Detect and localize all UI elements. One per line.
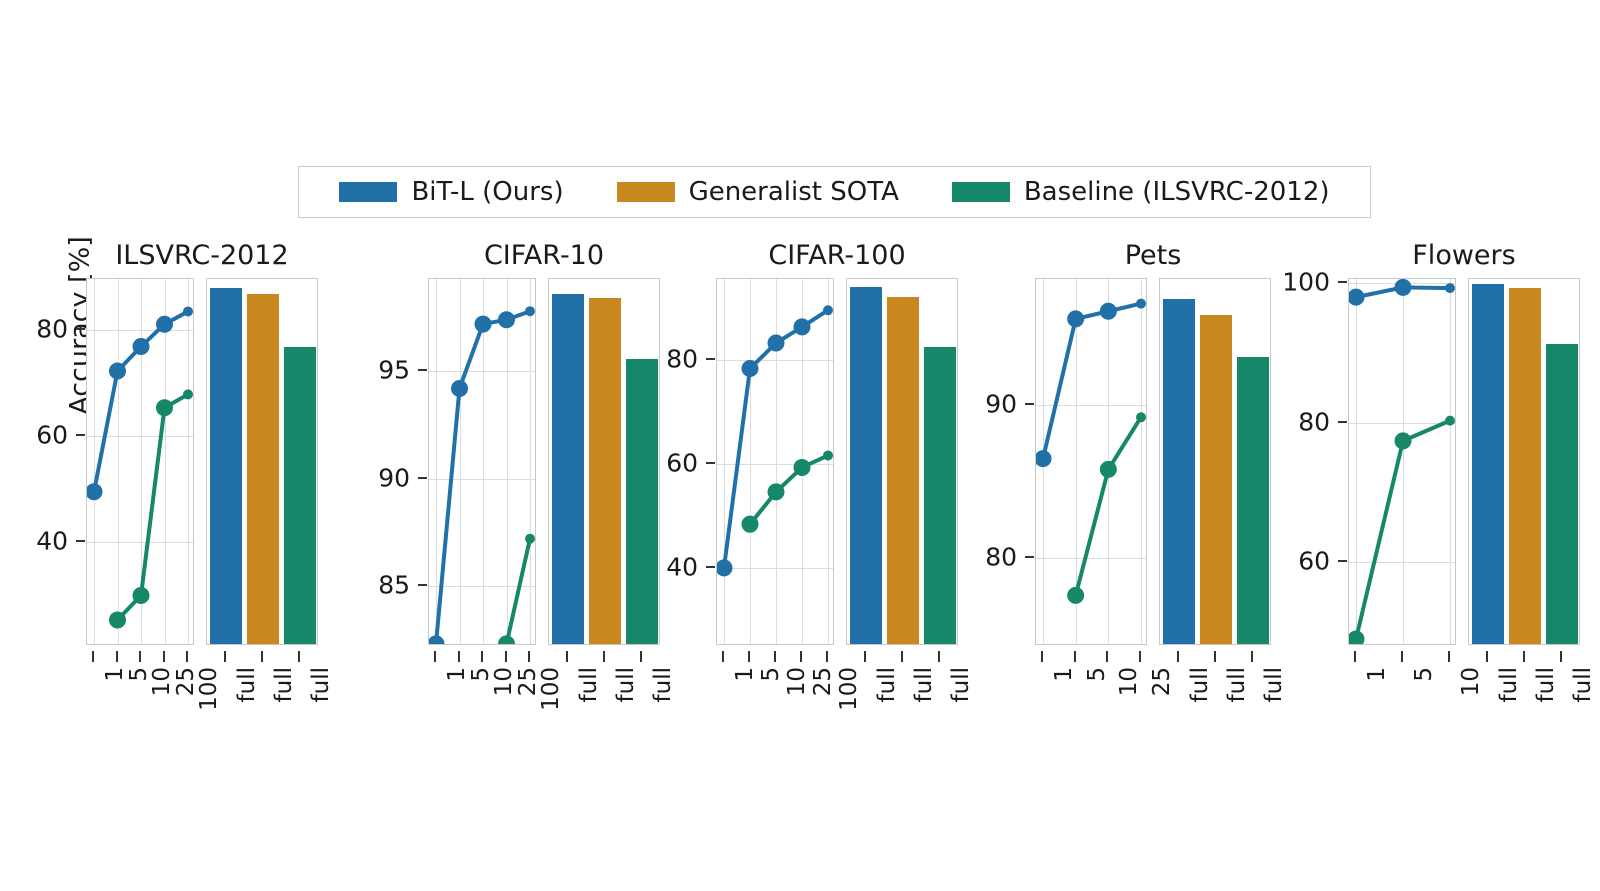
- x-tick-label: 5: [1411, 667, 1437, 682]
- x-tick-mark: [1106, 651, 1108, 662]
- x-tick-label: 10: [491, 667, 517, 696]
- axes-row: [716, 278, 958, 645]
- x-tick-mark: [481, 651, 483, 662]
- x-tick-label: 1: [732, 667, 758, 682]
- x-tick-label: 5: [468, 667, 494, 682]
- bar-axes: [548, 278, 660, 645]
- x-tick-mark: [434, 651, 436, 662]
- bar: [1472, 284, 1504, 644]
- legend-entry-baseline-ilsvrc-2012[interactable]: Baseline (ILSVRC-2012): [952, 179, 1330, 205]
- series-marker: [110, 612, 126, 628]
- figure-canvas: BiT-L (Ours)Generalist SOTABaseline (ILS…: [0, 0, 1600, 891]
- x-tick-label: 25: [515, 667, 541, 696]
- subplot-title: Flowers: [1348, 240, 1580, 271]
- series-marker: [824, 451, 833, 460]
- series-marker: [1137, 299, 1146, 308]
- x-tick-label: 10: [149, 667, 175, 696]
- y-tick-mark: [418, 369, 427, 371]
- x-tick-label: full: [576, 667, 602, 702]
- y-tick-mark: [418, 584, 427, 586]
- x-tick-label: full: [874, 667, 900, 702]
- x-tick-mark: [748, 651, 750, 662]
- x-tick-label: full: [1224, 667, 1250, 702]
- legend-swatch-baseline-ilsvrc-2012: [952, 182, 1010, 202]
- x-tick-mark: [298, 651, 300, 662]
- series-line: [507, 539, 531, 644]
- axes-row: [1348, 278, 1580, 645]
- series-marker: [742, 361, 758, 377]
- line-axes: [716, 278, 834, 645]
- x-tick-mark: [722, 651, 724, 662]
- x-tick-mark: [1139, 651, 1141, 662]
- bar: [552, 294, 584, 644]
- y-tick-label: 40: [666, 552, 698, 581]
- y-tick-mark: [1338, 281, 1347, 283]
- bar: [850, 287, 882, 644]
- series-marker: [133, 587, 149, 603]
- legend-label-generalist-sota: Generalist SOTA: [689, 179, 899, 205]
- x-tick-mark: [261, 651, 263, 662]
- axes-row: [428, 278, 660, 645]
- x-tick-mark: [640, 651, 642, 662]
- x-tick-label: 1: [444, 667, 470, 682]
- series-marker: [526, 307, 535, 316]
- y-tick-mark: [1025, 556, 1034, 558]
- x-tick-label: 25: [810, 667, 836, 696]
- series-marker: [428, 636, 444, 645]
- bar-axes: [206, 278, 318, 645]
- x-tick-mark: [603, 651, 605, 662]
- x-tick-mark: [1560, 651, 1562, 662]
- x-tick-label: 10: [784, 667, 810, 696]
- y-tick-label: 95: [378, 356, 410, 385]
- bar-axes: [1468, 278, 1580, 645]
- x-tick-label: 100: [836, 667, 862, 711]
- x-tick-mark: [1214, 651, 1216, 662]
- series-marker: [1068, 311, 1084, 327]
- legend-entry-bit-l[interactable]: BiT-L (Ours): [339, 179, 563, 205]
- series-marker: [794, 319, 810, 335]
- series-marker: [526, 534, 535, 543]
- series-marker: [1395, 433, 1411, 449]
- x-tick-label: full: [1533, 667, 1559, 702]
- series-marker: [1137, 413, 1146, 422]
- chart-legend: BiT-L (Ours)Generalist SOTABaseline (ILS…: [298, 166, 1371, 218]
- series-line: [1043, 304, 1141, 459]
- series-line: [1356, 421, 1450, 639]
- bar: [1237, 357, 1269, 644]
- series-marker: [1035, 451, 1051, 467]
- line-axes: [1348, 278, 1456, 645]
- x-tick-label: full: [650, 667, 676, 702]
- bar: [284, 347, 316, 644]
- x-tick-mark: [224, 651, 226, 662]
- series-marker: [824, 306, 833, 315]
- bar-axes: [846, 278, 958, 645]
- bar: [626, 359, 658, 644]
- series-marker: [1100, 461, 1116, 477]
- bar: [924, 347, 956, 644]
- series-marker: [86, 484, 102, 500]
- x-tick-mark: [1074, 651, 1076, 662]
- x-tick-mark: [566, 651, 568, 662]
- legend-label-baseline-ilsvrc-2012: Baseline (ILSVRC-2012): [1024, 179, 1330, 205]
- series-marker: [1068, 587, 1084, 603]
- y-tick-mark: [706, 358, 715, 360]
- x-tick-mark: [116, 651, 118, 662]
- series-marker: [1348, 289, 1364, 305]
- line-series-group: [87, 279, 194, 645]
- series-marker: [499, 636, 515, 645]
- x-tick-label: 5: [758, 667, 784, 682]
- x-tick-label: full: [1187, 667, 1213, 702]
- series-marker: [499, 312, 515, 328]
- x-tick-label: full: [911, 667, 937, 702]
- x-tick-label: 5: [1084, 667, 1110, 682]
- bar: [1546, 344, 1578, 644]
- x-tick-label: 1: [102, 667, 128, 682]
- x-tick-label: 100: [538, 667, 564, 711]
- series-marker: [157, 316, 173, 332]
- bar: [1509, 288, 1541, 644]
- legend-swatch-bit-l: [339, 182, 397, 202]
- x-tick-label: 100: [196, 667, 222, 711]
- y-tick-mark: [76, 434, 85, 436]
- x-tick-label: full: [234, 667, 260, 702]
- x-tick-mark: [901, 651, 903, 662]
- x-tick-mark: [1251, 651, 1253, 662]
- y-tick-label: 90: [378, 463, 410, 492]
- series-marker: [475, 316, 491, 332]
- y-tick-mark: [706, 566, 715, 568]
- subplot-title: ILSVRC-2012: [86, 240, 318, 271]
- series-marker: [768, 484, 784, 500]
- bar: [1200, 315, 1232, 644]
- axes-row: [1035, 278, 1271, 645]
- series-marker: [184, 307, 193, 316]
- y-tick-mark: [1338, 560, 1347, 562]
- line-series-group: [1349, 279, 1456, 645]
- line-axes: [428, 278, 536, 645]
- axes-row: [86, 278, 318, 645]
- y-tick-label: 85: [378, 570, 410, 599]
- y-tick-label: 40: [36, 527, 68, 556]
- series-marker: [1446, 416, 1455, 425]
- x-tick-mark: [864, 651, 866, 662]
- x-tick-label: 10: [1116, 667, 1142, 696]
- y-tick-label: 60: [666, 448, 698, 477]
- y-tick-mark: [1025, 403, 1034, 405]
- x-tick-mark: [1448, 651, 1450, 662]
- bar-axes: [1159, 278, 1271, 645]
- legend-entry-generalist-sota[interactable]: Generalist SOTA: [617, 179, 899, 205]
- x-tick-mark: [774, 651, 776, 662]
- bar: [247, 294, 279, 645]
- y-tick-label: 60: [36, 420, 68, 449]
- series-marker: [110, 363, 126, 379]
- x-tick-mark: [1523, 651, 1525, 662]
- x-tick-label: 5: [126, 667, 152, 682]
- x-tick-mark: [1486, 651, 1488, 662]
- series-marker: [716, 560, 732, 576]
- line-series-group: [717, 279, 834, 645]
- x-tick-mark: [92, 651, 94, 662]
- subplot-title: CIFAR-100: [716, 240, 958, 271]
- legend-label-bit-l: BiT-L (Ours): [411, 179, 563, 205]
- bar: [1163, 299, 1195, 645]
- x-tick-mark: [505, 651, 507, 662]
- bar: [887, 297, 919, 644]
- series-marker: [1348, 631, 1364, 645]
- series-line: [118, 394, 189, 620]
- series-marker: [133, 339, 149, 355]
- line-series-group: [1036, 279, 1147, 645]
- series-marker: [184, 390, 193, 399]
- y-tick-label: 60: [1298, 547, 1330, 576]
- y-tick-mark: [1338, 421, 1347, 423]
- series-marker: [1395, 279, 1411, 295]
- y-tick-mark: [76, 540, 85, 542]
- x-tick-mark: [1401, 651, 1403, 662]
- x-tick-label: full: [271, 667, 297, 702]
- subplot-title: Pets: [1035, 240, 1271, 271]
- x-tick-label: full: [308, 667, 334, 702]
- series-marker: [742, 516, 758, 532]
- x-tick-label: 10: [1458, 667, 1484, 696]
- y-tick-label: 80: [1298, 407, 1330, 436]
- x-tick-mark: [826, 651, 828, 662]
- x-tick-mark: [1041, 651, 1043, 662]
- series-marker: [1100, 303, 1116, 319]
- line-series-group: [429, 279, 536, 645]
- y-tick-mark: [76, 328, 85, 330]
- x-tick-label: full: [613, 667, 639, 702]
- x-tick-mark: [139, 651, 141, 662]
- y-tick-mark: [418, 477, 427, 479]
- x-tick-label: 25: [173, 667, 199, 696]
- bar: [589, 298, 621, 644]
- y-tick-label: 100: [1282, 268, 1330, 297]
- y-tick-label: 80: [36, 314, 68, 343]
- series-marker: [768, 335, 784, 351]
- series-line: [1076, 417, 1141, 595]
- line-axes: [86, 278, 194, 645]
- y-tick-label: 80: [985, 543, 1017, 572]
- x-tick-mark: [458, 651, 460, 662]
- x-tick-mark: [1354, 651, 1356, 662]
- x-tick-mark: [800, 651, 802, 662]
- y-tick-mark: [706, 462, 715, 464]
- y-tick-label: 80: [666, 344, 698, 373]
- series-marker: [1446, 284, 1455, 293]
- legend-swatch-generalist-sota: [617, 182, 675, 202]
- x-tick-label: full: [1261, 667, 1287, 702]
- series-marker: [794, 459, 810, 475]
- series-marker: [157, 400, 173, 416]
- x-tick-label: 25: [1149, 667, 1175, 696]
- series-marker: [452, 380, 468, 396]
- line-axes: [1035, 278, 1147, 645]
- bar: [210, 288, 242, 644]
- x-tick-mark: [163, 651, 165, 662]
- x-tick-mark: [938, 651, 940, 662]
- x-tick-mark: [1177, 651, 1179, 662]
- x-tick-label: 1: [1051, 667, 1077, 682]
- x-tick-label: full: [948, 667, 974, 702]
- x-tick-label: full: [1496, 667, 1522, 702]
- x-tick-mark: [528, 651, 530, 662]
- subplot-title: CIFAR-10: [428, 240, 660, 271]
- y-tick-label: 90: [985, 389, 1017, 418]
- x-tick-label: full: [1570, 667, 1596, 702]
- series-line: [750, 455, 828, 524]
- x-tick-label: 1: [1364, 667, 1390, 682]
- x-tick-mark: [186, 651, 188, 662]
